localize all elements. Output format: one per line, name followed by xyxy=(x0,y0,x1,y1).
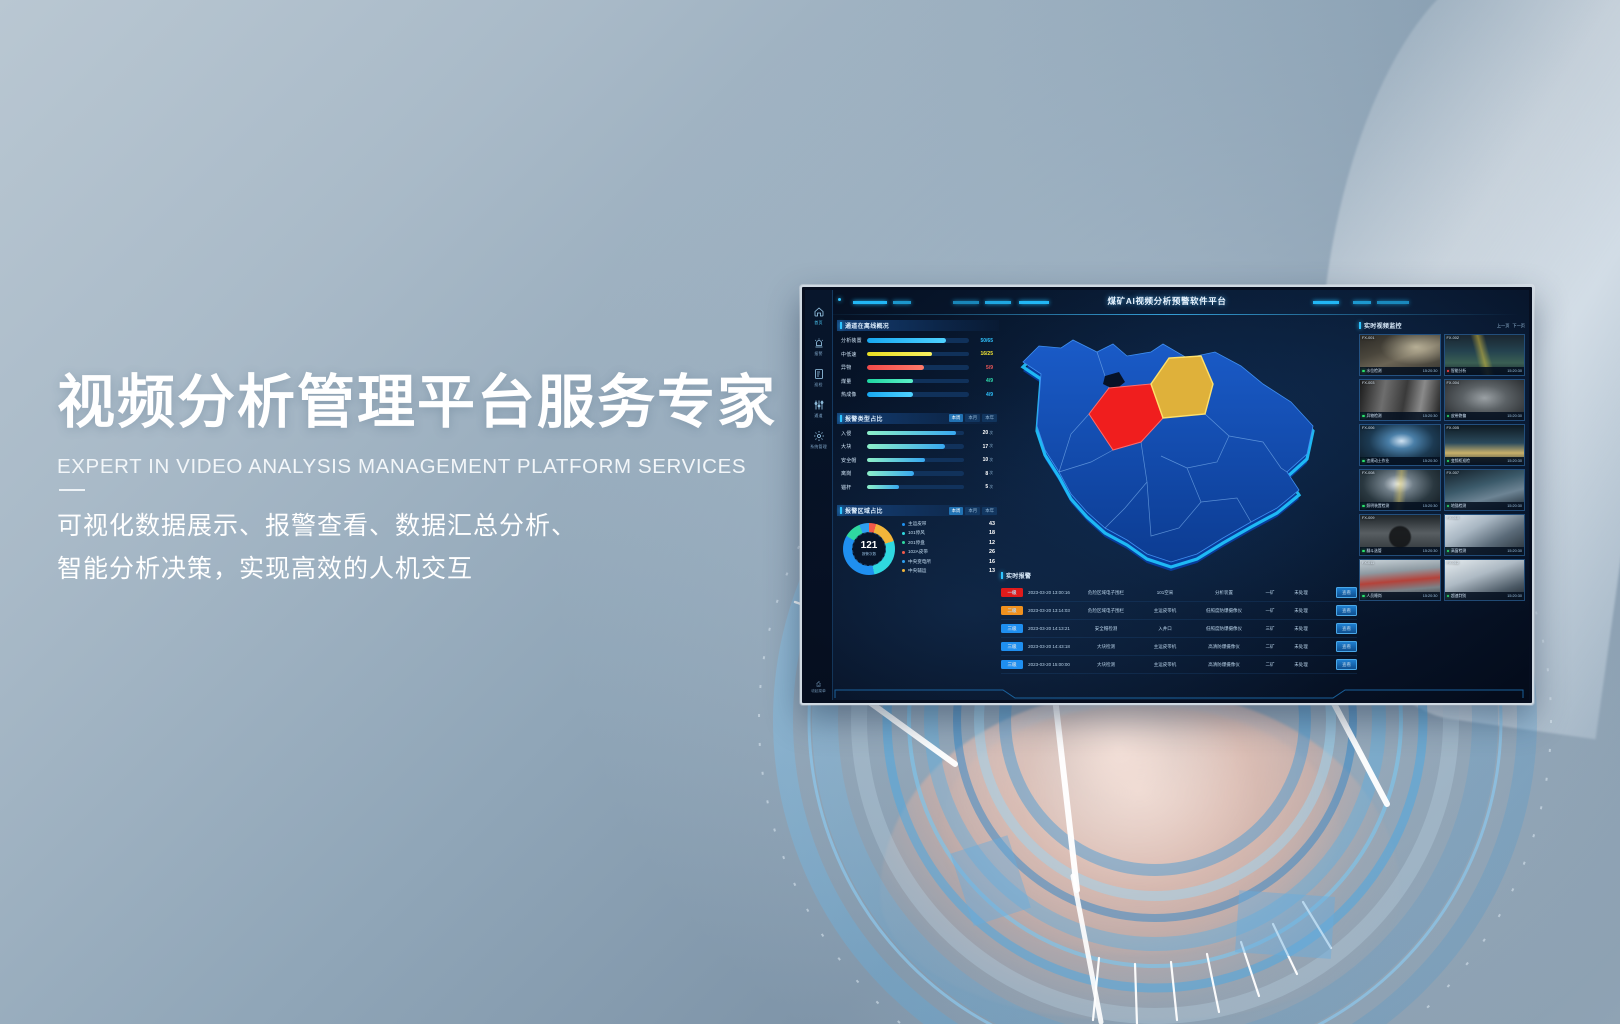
legend-label: 中央辅运 xyxy=(908,568,989,574)
legend-item: 201停盘 12 xyxy=(902,540,995,546)
camera-time: 15:20:30 xyxy=(1423,504,1438,508)
status-badge: 二级 xyxy=(1001,606,1023,615)
legend-color-dot xyxy=(902,551,905,554)
cell-location: 101空采 xyxy=(1137,590,1193,596)
status-badge: 三级 xyxy=(1001,660,1023,669)
camera-id: FX-004 xyxy=(1447,381,1459,385)
progress-track xyxy=(867,352,969,357)
cell-type: 大块检测 xyxy=(1075,644,1137,650)
progress-track xyxy=(867,471,964,476)
view-button[interactable]: 查看 xyxy=(1336,659,1357,670)
progress-track xyxy=(867,365,969,370)
progress-track xyxy=(867,444,964,449)
cell-status: 未处理 xyxy=(1285,644,1317,650)
hero-text-block: 视频分析管理平台服务专家 EXPERT IN VIDEO ANALYSIS MA… xyxy=(57,372,817,592)
legend-label: 主运皮带 xyxy=(908,521,989,527)
camera-name: 变频柜巡检 xyxy=(1451,459,1470,464)
cell-mine: 三矿 xyxy=(1255,626,1285,632)
camera-id: FX-006 xyxy=(1362,426,1374,430)
row-label: 异物 xyxy=(841,364,867,371)
row-value: 5/9 xyxy=(969,365,993,371)
cell-device: 高清防爆摄像仪 xyxy=(1193,644,1255,650)
sidebar-item-label: 首页 xyxy=(805,320,832,326)
alarm-type-row: 大块 17 次 xyxy=(841,443,993,450)
panel-header: 实时报警 xyxy=(1001,570,1357,581)
camera-id: FX-012 xyxy=(1447,561,1459,565)
camera-id: FX-010 xyxy=(1447,516,1459,520)
camera-name: 智能分析 xyxy=(1451,369,1466,374)
cell-time: 2023-03-20 14:43:18 xyxy=(1023,644,1075,649)
sidebar: 首页 报警 巡检 通道 xyxy=(805,290,833,700)
camera-time: 15:20:30 xyxy=(1507,414,1522,418)
camera-name: 高窗检测 xyxy=(1451,549,1466,554)
camera-name: 照明装置检测 xyxy=(1367,504,1390,509)
table-row[interactable]: 三级 2023-03-20 14:13:21 安全帽检测 入井口 低照度防爆摄像… xyxy=(1001,620,1357,638)
cell-type: 危险区域电子围栏 xyxy=(1075,608,1137,614)
camera-time: 15:20:30 xyxy=(1507,369,1522,373)
table-row[interactable]: 三级 2023-03-20 15:00:00 大块检测 主运皮带机 高清防爆摄像… xyxy=(1001,656,1357,674)
camera-id: FX-003 xyxy=(1362,381,1374,385)
donut-caption: 报警次数 xyxy=(862,552,876,557)
cell-type: 安全帽检测 xyxy=(1075,626,1137,632)
cell-mine: 一矿 xyxy=(1255,608,1285,614)
camera-id: FX-002 xyxy=(1447,336,1459,340)
divider xyxy=(59,489,85,491)
row-value: 20 xyxy=(964,430,988,436)
alarm-type-row: 安全帽 10 次 xyxy=(841,457,993,464)
gear-icon xyxy=(805,430,832,443)
video-tile[interactable]: FX-004 皮带跑偏15:20:30 xyxy=(1444,379,1526,421)
period-tabs: 本周 本月 本年 xyxy=(949,507,999,515)
donut-total: 121 xyxy=(861,541,878,551)
legend-color-dot xyxy=(902,532,905,535)
channel-row: 分析装置 50/65 xyxy=(841,337,993,344)
pagination: 上一页 下一页 xyxy=(1497,323,1525,329)
alarm-type-row: 离岗 8 次 xyxy=(841,470,993,477)
card-title: 报警类型占比 xyxy=(845,414,883,423)
realtime-alarm-panel: 实时报警 一级 2023-03-20 13:00:16 危险区域电子围栏 101… xyxy=(1001,570,1357,696)
sidebar-collapse-button[interactable]: ⎙ 收起菜单 xyxy=(805,682,832,694)
tab-week[interactable]: 本周 xyxy=(949,414,964,422)
camera-time: 15:20:30 xyxy=(1423,549,1438,553)
progress-track xyxy=(867,431,964,436)
cell-status: 未处理 xyxy=(1285,590,1317,596)
camera-name: 人员睡岗 xyxy=(1367,594,1382,599)
progress-track xyxy=(867,485,964,490)
card-title: 报警区域占比 xyxy=(845,506,883,515)
donut-legend: 主运皮带 43 101停风 18 201停盘 12 xyxy=(895,521,995,577)
next-page-button[interactable]: 下一页 xyxy=(1512,323,1525,329)
cell-time: 2023-03-20 13:14:03 xyxy=(1023,608,1075,613)
row-label: 安全帽 xyxy=(841,457,867,464)
video-tile[interactable]: FX-012 超速判别15:20:30 xyxy=(1444,559,1526,601)
alarm-type-card: 报警类型占比 本周 本月 本年 入侵 20 次 大块 xyxy=(837,413,999,500)
row-label: 离岗 xyxy=(841,470,867,477)
dashboard-title: 煤矿AI视频分析预警软件平台 xyxy=(805,295,1529,307)
legend-color-dot xyxy=(902,560,905,563)
alarm-area-card: 报警区域占比 本周 本月 本年 121 报警次数 xyxy=(837,505,999,577)
video-tile[interactable]: FX-006 违规动土作业15:20:30 xyxy=(1359,424,1441,466)
tab-month[interactable]: 本月 xyxy=(965,507,980,515)
legend-label: 101停风 xyxy=(908,530,989,536)
legend-color-dot xyxy=(902,541,905,544)
row-label: 热成像 xyxy=(841,391,867,398)
camera-name: 异物检测 xyxy=(1367,414,1382,419)
cell-location: 主运皮带机 xyxy=(1137,608,1193,614)
collapse-icon: ⎙ xyxy=(805,682,832,689)
alarm-icon xyxy=(805,337,832,350)
row-value: 17 xyxy=(964,444,988,450)
channel-row: 热成像 4/9 xyxy=(841,391,993,398)
donut-center: 121 报警次数 xyxy=(852,532,886,566)
cell-mine: 一矿 xyxy=(1255,590,1285,596)
legend-value: 16 xyxy=(989,559,995,565)
video-grid: FX-001 水位检测15:20:30 FX-002 智能分析15:20:30 … xyxy=(1359,334,1525,601)
legend-item: 102A皮带 26 xyxy=(902,549,995,555)
progress-track xyxy=(867,379,969,384)
cell-device: 低照度防爆摄像仪 xyxy=(1193,608,1255,614)
status-badge: 三级 xyxy=(1001,642,1023,651)
camera-time: 15:20:30 xyxy=(1423,369,1438,373)
table-row[interactable]: 二级 2023-03-20 13:14:03 危险区域电子围栏 主运皮带机 低照… xyxy=(1001,602,1357,620)
legend-value: 43 xyxy=(989,521,995,527)
card-header: 报警区域占比 本周 本月 本年 xyxy=(837,505,999,516)
channel-status-card: 通道在离线概况 分析装置 50/65 中低速 16/25 异物 xyxy=(837,320,999,407)
camera-id: FX-007 xyxy=(1447,471,1459,475)
dashboard-screen: 煤矿AI视频分析预警软件平台 首页 报警 巡检 xyxy=(805,290,1529,700)
left-panel: 通道在离线概况 分析装置 50/65 中低速 16/25 异物 xyxy=(837,320,999,694)
inspection-icon xyxy=(805,368,832,381)
cell-status: 未处理 xyxy=(1285,662,1317,668)
row-unit: 次 xyxy=(989,485,993,490)
legend-value: 13 xyxy=(989,568,995,574)
status-badge: 三级 xyxy=(1001,624,1023,633)
video-tile[interactable]: FX-011 人员睡岗15:20:30 xyxy=(1359,559,1441,601)
video-tile[interactable]: FX-008 照明装置检测15:20:30 xyxy=(1359,469,1441,511)
prev-page-button[interactable]: 上一页 xyxy=(1497,323,1510,329)
sidebar-item-label: 通道 xyxy=(805,413,832,419)
video-tile[interactable]: FX-005 变频柜巡检15:20:30 xyxy=(1444,424,1526,466)
progress-track xyxy=(867,458,964,463)
province-map[interactable] xyxy=(1001,322,1331,572)
cell-location: 主运皮带机 xyxy=(1137,644,1193,650)
legend-label: 102A皮带 xyxy=(908,549,989,555)
legend-value: 12 xyxy=(989,540,995,546)
row-label: 锚杆 xyxy=(841,484,867,491)
camera-id: FX-005 xyxy=(1447,426,1459,430)
tab-week[interactable]: 本周 xyxy=(949,507,964,515)
view-button[interactable]: 查看 xyxy=(1336,605,1357,616)
channel-icon xyxy=(805,399,832,412)
row-unit: 次 xyxy=(989,444,993,449)
cell-status: 未处理 xyxy=(1285,626,1317,632)
row-value: 4/9 xyxy=(969,378,993,384)
cell-time: 2023-03-20 14:13:21 xyxy=(1023,626,1075,631)
camera-time: 15:20:30 xyxy=(1507,549,1522,553)
cell-time: 2023-03-20 13:00:16 xyxy=(1023,590,1075,595)
page-subtitle-en: EXPERT IN VIDEO ANALYSIS MANAGEMENT PLAT… xyxy=(57,455,817,479)
cell-type: 危险区域电子围栏 xyxy=(1075,590,1137,596)
alarm-type-row: 入侵 20 次 xyxy=(841,430,993,437)
view-button[interactable]: 查看 xyxy=(1336,641,1357,652)
legend-item: 中央辅运 13 xyxy=(902,568,995,574)
cell-type: 大块检测 xyxy=(1075,662,1137,668)
table-row[interactable]: 一级 2023-03-20 13:00:16 危险区域电子围栏 101空采 分析… xyxy=(1001,584,1357,602)
sidebar-item-label: 系统管理 xyxy=(805,444,832,450)
tab-year[interactable]: 本年 xyxy=(982,507,997,515)
camera-id: FX-008 xyxy=(1362,471,1374,475)
camera-time: 15:20:30 xyxy=(1423,414,1438,418)
row-value: 8 xyxy=(964,471,988,477)
dashboard-header: 煤矿AI视频分析预警软件平台 xyxy=(805,290,1529,316)
tab-month[interactable]: 本月 xyxy=(965,414,980,422)
video-tile[interactable]: FX-002 智能分析15:20:30 xyxy=(1444,334,1526,376)
cell-device: 高清防爆摄像仪 xyxy=(1193,662,1255,668)
camera-name: 超速判别 xyxy=(1451,594,1466,599)
video-tile[interactable]: FX-009 翻斗选管15:20:30 xyxy=(1359,514,1441,556)
cell-location: 主运皮带机 xyxy=(1137,662,1193,668)
alarm-table: 一级 2023-03-20 13:00:16 危险区域电子围栏 101空采 分析… xyxy=(1001,584,1357,674)
sidebar-item-label: 报警 xyxy=(805,351,832,357)
sidebar-collapse-label: 收起菜单 xyxy=(805,689,832,694)
row-unit: 次 xyxy=(989,458,993,463)
row-value: 4/9 xyxy=(969,392,993,398)
row-label: 大块 xyxy=(841,443,867,450)
video-tile[interactable]: FX-010 高窗检测15:20:30 xyxy=(1444,514,1526,556)
row-value: 50/65 xyxy=(969,338,993,344)
row-unit: 次 xyxy=(989,471,993,476)
video-monitor-panel: 实时视频监控 上一页 下一页 FX-001 水位检测15:20:30 FX-00… xyxy=(1359,320,1525,696)
status-dot xyxy=(838,298,841,301)
camera-time: 15:20:30 xyxy=(1507,594,1522,598)
page-title: 视频分析管理平台服务专家 xyxy=(57,372,817,435)
alarm-type-row: 锚杆 5 次 xyxy=(841,484,993,491)
sidebar-item-system[interactable]: 系统管理 xyxy=(805,430,832,450)
row-label: 煤量 xyxy=(841,378,867,385)
channel-row: 煤量 4/9 xyxy=(841,378,993,385)
cell-device: 低照度防爆摄像仪 xyxy=(1193,626,1255,632)
sidebar-item-inspection[interactable]: 巡检 xyxy=(805,368,832,388)
camera-name: 皮带跑偏 xyxy=(1451,414,1466,419)
video-tile[interactable]: FX-001 水位检测15:20:30 xyxy=(1359,334,1441,376)
camera-time: 15:20:30 xyxy=(1423,594,1438,598)
camera-name: 地锚检测 xyxy=(1451,504,1466,509)
row-label: 分析装置 xyxy=(841,337,867,344)
home-icon xyxy=(805,306,832,319)
camera-time: 15:20:30 xyxy=(1507,504,1522,508)
row-value: 16/25 xyxy=(969,351,993,357)
period-tabs: 本周 本月 本年 xyxy=(949,414,999,422)
cell-device: 分析装置 xyxy=(1193,590,1255,596)
sidebar-item-channel[interactable]: 通道 xyxy=(805,399,832,419)
camera-name: 翻斗选管 xyxy=(1367,549,1382,554)
camera-id: FX-009 xyxy=(1362,516,1374,520)
row-label: 中低速 xyxy=(841,351,867,358)
channel-row: 异物 5/9 xyxy=(841,364,993,371)
hero-desc-line-2: 智能分析决策，实现高效的人机交互 xyxy=(57,548,817,592)
legend-value: 26 xyxy=(989,549,995,555)
view-button[interactable]: 查看 xyxy=(1336,623,1357,634)
panel-header: 实时视频监控 上一页 下一页 xyxy=(1359,320,1525,331)
sidebar-item-home[interactable]: 首页 xyxy=(805,306,832,326)
video-tile[interactable]: FX-003 异物检测15:20:30 xyxy=(1359,379,1441,421)
row-label: 入侵 xyxy=(841,430,867,437)
cell-status: 未处理 xyxy=(1285,608,1317,614)
camera-id: FX-001 xyxy=(1362,336,1374,340)
channel-row: 中低速 16/25 xyxy=(841,351,993,358)
camera-name: 水位检测 xyxy=(1367,369,1382,374)
sidebar-item-alarm[interactable]: 报警 xyxy=(805,337,832,357)
table-row[interactable]: 三级 2023-03-20 14:43:18 大块检测 主运皮带机 高清防爆摄像… xyxy=(1001,638,1357,656)
row-value: 5 xyxy=(964,484,988,490)
camera-time: 15:20:30 xyxy=(1507,459,1522,463)
legend-color-dot xyxy=(902,523,905,526)
camera-id: FX-011 xyxy=(1362,561,1374,565)
cell-mine: 二矿 xyxy=(1255,662,1285,668)
camera-time: 15:20:30 xyxy=(1423,459,1438,463)
legend-label: 中央变电所 xyxy=(908,559,989,565)
cell-location: 入井口 xyxy=(1137,626,1193,632)
camera-name: 违规动土作业 xyxy=(1367,459,1390,464)
hero-desc-line-1: 可视化数据展示、报警查看、数据汇总分析、 xyxy=(57,505,817,549)
legend-item: 中央变电所 16 xyxy=(902,559,995,565)
row-unit: 次 xyxy=(989,431,993,436)
legend-item: 主运皮带 43 xyxy=(902,521,995,527)
panel-title: 实时视频监控 xyxy=(1364,321,1402,330)
monitor-frame: 煤矿AI视频分析预警软件平台 首页 报警 巡检 xyxy=(800,285,1534,705)
legend-value: 18 xyxy=(989,530,995,536)
card-header: 报警类型占比 本周 本月 本年 xyxy=(837,413,999,424)
legend-item: 101停风 18 xyxy=(902,530,995,536)
view-button[interactable]: 查看 xyxy=(1336,587,1357,598)
card-header: 通道在离线概况 xyxy=(837,320,999,331)
row-value: 10 xyxy=(964,457,988,463)
cell-time: 2023-03-20 15:00:00 xyxy=(1023,662,1075,667)
card-title: 通道在离线概况 xyxy=(845,321,889,330)
cell-mine: 二矿 xyxy=(1255,644,1285,650)
progress-track xyxy=(867,392,969,397)
status-badge: 一级 xyxy=(1001,588,1023,597)
video-tile[interactable]: FX-007 地锚检测15:20:30 xyxy=(1444,469,1526,511)
legend-color-dot xyxy=(902,569,905,572)
alarm-area-donut-chart: 121 报警次数 xyxy=(843,523,895,575)
legend-label: 201停盘 xyxy=(908,540,989,546)
progress-track xyxy=(867,338,969,343)
tab-year[interactable]: 本年 xyxy=(982,414,997,422)
sidebar-item-label: 巡检 xyxy=(805,382,832,388)
panel-title: 实时报警 xyxy=(1006,571,1031,580)
